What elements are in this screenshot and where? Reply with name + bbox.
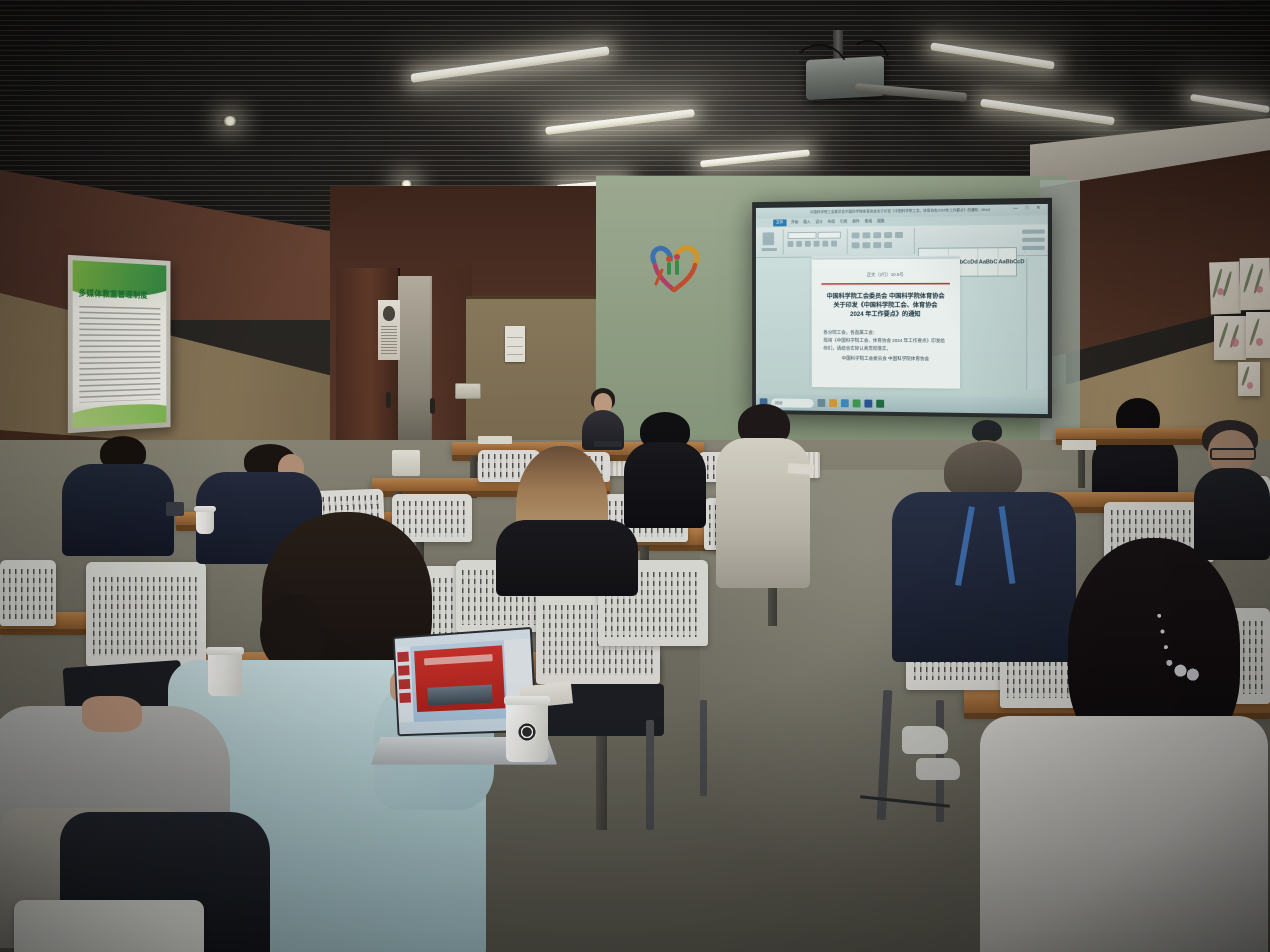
ribbon-group-font (785, 229, 848, 255)
poster-inner: 多媒体教室管理制度 (73, 260, 167, 427)
botanical-art-panel (1214, 316, 1246, 360)
slide-thumbnail[interactable] (397, 652, 409, 662)
poster-body-text (79, 306, 160, 403)
attendee-grey-hand (82, 696, 142, 732)
cup-lid (206, 647, 244, 655)
style-option-3[interactable]: AaBbC (979, 248, 999, 275)
poster-title: 多媒体教室管理制度 (78, 287, 162, 301)
attendee-puffer-torso (980, 716, 1268, 952)
attendee-front-right-torso (716, 438, 810, 588)
word-document-page[interactable]: 正文（2行）10.5号 中国科学院工会委员会 中国科学院体育协会 关于印发《中国… (812, 259, 960, 389)
tissue-box (392, 450, 420, 476)
tab-review[interactable]: 审阅 (865, 219, 872, 224)
botanical-art-panel (1240, 258, 1270, 311)
attendee-suit-left-torso (62, 464, 174, 556)
attendee-blonde-torso (496, 520, 638, 596)
person-attendee-back-right (1092, 398, 1178, 504)
document-signature: 中国科学院工会委员会 中国科学院体育协会 (819, 355, 952, 362)
botanical-art-panel (1238, 362, 1260, 396)
document-body-line-3: 你们，请结合实际认真贯彻落实。 (823, 345, 950, 354)
projection-screen-frame: 中国科学院工会委员会中国科学院体育协会关于印发《中国科学院工会、体育协会2024… (752, 198, 1052, 419)
papers-on-table (788, 463, 815, 475)
document-title-line-3: 2024 年工作要点》的通知 (819, 310, 952, 319)
chair-leg (646, 720, 654, 830)
projection-screen: 中国科学院工会委员会中国科学院体育协会关于印发《中国科学院工会、体育协会2024… (756, 204, 1048, 414)
chair-backrest (14, 900, 204, 952)
tab-layout[interactable]: 布局 (828, 220, 835, 225)
chair-slats (3, 569, 52, 619)
cup-lid (504, 696, 550, 705)
person-attendee-glasses (1194, 420, 1270, 556)
word-ribbon[interactable]: AaBbCcDd AaBbCcDd AaBbC AaBbCcD (756, 224, 1048, 258)
document-title-line-1: 中国科学院工会委员会 中国科学院体育协会 (819, 292, 952, 301)
ribbon-group-clipboard (758, 229, 784, 255)
document-red-rule (821, 283, 950, 284)
tab-view[interactable]: 视图 (877, 219, 884, 224)
tab-mailings[interactable]: 邮件 (852, 219, 859, 224)
word-icon[interactable] (864, 400, 872, 408)
attendee-cap-hair (972, 420, 1002, 442)
word-navigation-pane[interactable] (1026, 258, 1044, 390)
attendee-shoe (902, 726, 948, 754)
ribbon-group-editing (1019, 226, 1048, 253)
slide-thumbnail[interactable] (399, 693, 411, 703)
papers-on-table (1062, 440, 1096, 450)
document-title-line-2: 关于印发《中国科学院工会、体育协会 (819, 301, 952, 310)
cup-logo-icon (517, 722, 537, 742)
recessed-downlight (222, 116, 238, 126)
heart-logo-icon (644, 240, 706, 296)
powerpoint-slide (414, 645, 505, 712)
taskview-icon[interactable] (818, 399, 826, 407)
botanical-art-panel (1209, 261, 1241, 314)
tab-insert[interactable]: 插入 (803, 220, 810, 225)
chair-leg (700, 700, 707, 796)
chair[interactable] (0, 560, 56, 626)
door-handle[interactable] (386, 392, 391, 408)
coffee-cup-secondary (208, 652, 242, 696)
tab-references[interactable]: 引用 (840, 220, 847, 225)
hair-clip-icon (1148, 606, 1204, 704)
slide-thumbnail[interactable] (398, 665, 410, 675)
corridor-portrait-poster (378, 300, 400, 360)
person-attendee-puffer (980, 538, 1270, 952)
portrait-caption-text (381, 326, 397, 356)
person-attendee-front-right (716, 404, 812, 590)
chair-backrest (0, 560, 56, 626)
presenter-papers (478, 436, 512, 444)
window-controls[interactable]: — □ ✕ (1013, 205, 1044, 212)
tab-home[interactable]: 开始 (791, 220, 798, 225)
person-attendee-blonde (496, 446, 642, 592)
document-title: 中国科学院工会委员会 中国科学院体育协会 关于印发《中国科学院工会、体育协会 2… (819, 292, 952, 319)
document-header-note: 正文（2行）10.5号 (821, 272, 950, 279)
botanical-art-panel (1246, 312, 1270, 358)
wechat-icon[interactable] (853, 399, 861, 407)
light-switch[interactable] (455, 383, 481, 399)
poster-wave-bottom (73, 403, 167, 428)
person-attendee-suit-left (62, 436, 174, 552)
attendee-front-mid-torso (624, 442, 706, 528)
explorer-icon[interactable] (829, 399, 837, 407)
coffee-cup-foreground (506, 702, 548, 762)
portrait-head (383, 306, 395, 321)
person-attendee-front-mid (624, 412, 706, 524)
tab-file[interactable]: 文件 (773, 219, 786, 226)
wall-notice (505, 326, 525, 362)
classroom-photo: 多媒体教室管理制度 (0, 0, 1270, 952)
browser-icon[interactable] (841, 399, 849, 407)
tab-design[interactable]: 设计 (815, 220, 822, 225)
wall-poster-multimedia-rules: 多媒体教室管理制度 (68, 255, 171, 433)
door-handle-secondary[interactable] (430, 398, 435, 414)
glasses-icon (1210, 448, 1256, 460)
excel-icon[interactable] (876, 400, 884, 408)
document-body: 各分院工会，各直属工会： 现将《中国科学院工会、体育协会 2024 年工作要点》… (823, 329, 950, 354)
slide-thumbnail[interactable] (399, 679, 411, 689)
attendee-shoe (916, 758, 960, 780)
ribbon-group-paragraph (849, 228, 915, 255)
